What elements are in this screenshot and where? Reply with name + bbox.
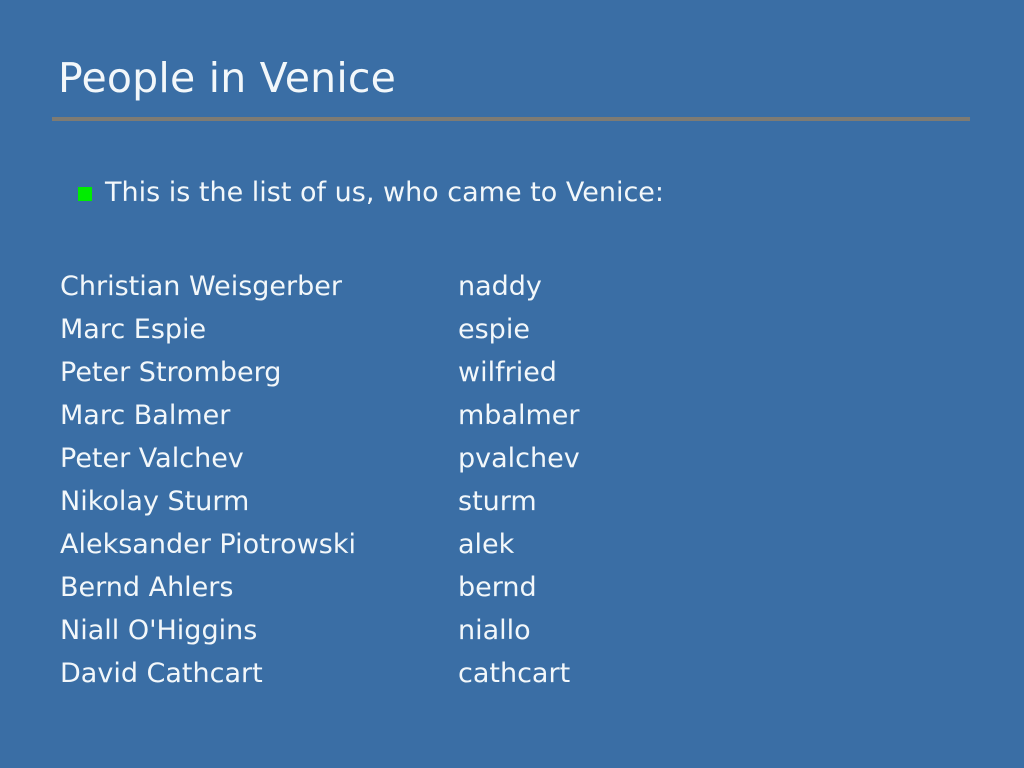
person-name: Aleksander Piotrowski <box>60 523 458 566</box>
person-login: mbalmer <box>458 394 920 437</box>
table-row: Peter Valchev pvalchev <box>60 437 920 480</box>
person-name: Marc Balmer <box>60 394 458 437</box>
person-login: bernd <box>458 566 920 609</box>
person-name: Nikolay Sturm <box>60 480 458 523</box>
intro-bullet-label: This is the list of us, who came to Veni… <box>105 176 664 210</box>
person-login: cathcart <box>458 652 920 695</box>
green-square-bullet-icon <box>78 187 92 201</box>
table-row: Niall O'Higgins niallo <box>60 609 920 652</box>
person-name: Christian Weisgerber <box>60 265 458 308</box>
people-list-body: Christian Weisgerber naddy Marc Espie es… <box>60 265 920 695</box>
person-login: naddy <box>458 265 920 308</box>
table-row: Aleksander Piotrowski alek <box>60 523 920 566</box>
person-name: Bernd Ahlers <box>60 566 458 609</box>
person-login: niallo <box>458 609 920 652</box>
table-row: Christian Weisgerber naddy <box>60 265 920 308</box>
person-name: Marc Espie <box>60 308 458 351</box>
intro-bullet-item: This is the list of us, who came to Veni… <box>78 176 664 210</box>
person-name: Peter Valchev <box>60 437 458 480</box>
person-login: pvalchev <box>458 437 920 480</box>
person-login: alek <box>458 523 920 566</box>
person-login: espie <box>458 308 920 351</box>
person-name: David Cathcart <box>60 652 458 695</box>
table-row: David Cathcart cathcart <box>60 652 920 695</box>
table-row: Bernd Ahlers bernd <box>60 566 920 609</box>
table-row: Marc Espie espie <box>60 308 920 351</box>
person-name: Peter Stromberg <box>60 351 458 394</box>
presentation-slide: People in Venice This is the list of us,… <box>0 0 1024 768</box>
person-name: Niall O'Higgins <box>60 609 458 652</box>
person-login: wilfried <box>458 351 920 394</box>
title-divider <box>52 117 970 121</box>
person-login: sturm <box>458 480 920 523</box>
table-row: Marc Balmer mbalmer <box>60 394 920 437</box>
table-row: Peter Stromberg wilfried <box>60 351 920 394</box>
table-row: Nikolay Sturm sturm <box>60 480 920 523</box>
page-title: People in Venice <box>58 52 974 104</box>
people-list-table: Christian Weisgerber naddy Marc Espie es… <box>60 265 920 695</box>
